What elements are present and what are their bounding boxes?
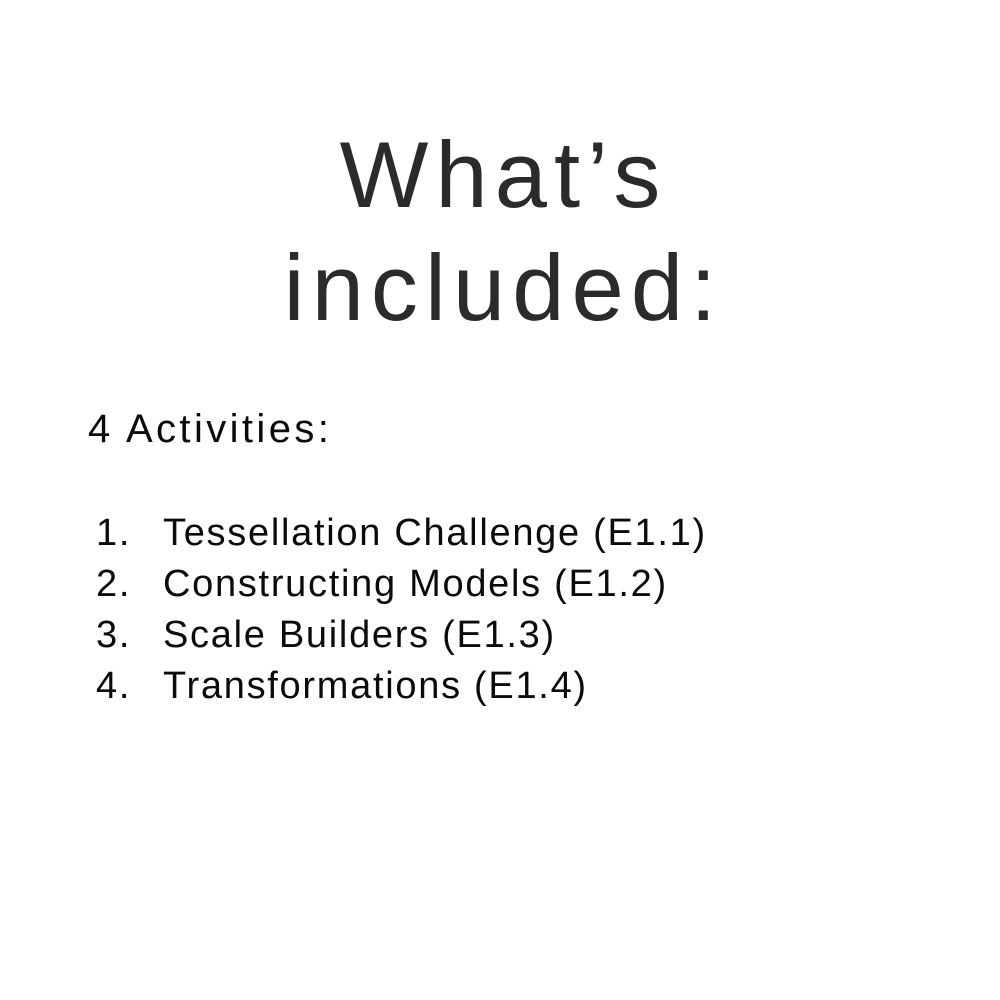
list-item-number: 3.	[96, 610, 163, 661]
activity-list: 1. Tessellation Challenge (E1.1) 2. Cons…	[96, 508, 916, 712]
page-title-line-2: included:	[0, 231, 1000, 344]
slide-canvas: What’s included: 4 Activities: 1. Tessel…	[0, 0, 1000, 1000]
list-item-number: 2.	[96, 559, 163, 610]
list-item: 1. Tessellation Challenge (E1.1)	[96, 508, 916, 559]
activities-count-heading: 4 Activities:	[88, 406, 332, 452]
list-item-label: Tessellation Challenge (E1.1)	[163, 508, 916, 559]
list-item: 3. Scale Builders (E1.3)	[96, 610, 916, 661]
list-item-label: Transformations (E1.4)	[163, 661, 916, 712]
list-item-number: 1.	[96, 508, 163, 559]
list-item-label: Scale Builders (E1.3)	[163, 610, 916, 661]
page-title-line-1: What’s	[0, 118, 1000, 231]
list-item: 4. Transformations (E1.4)	[96, 661, 916, 712]
page-title: What’s included:	[0, 118, 1000, 344]
list-item-label: Constructing Models (E1.2)	[163, 559, 916, 610]
list-item-number: 4.	[96, 661, 163, 712]
list-item: 2. Constructing Models (E1.2)	[96, 559, 916, 610]
